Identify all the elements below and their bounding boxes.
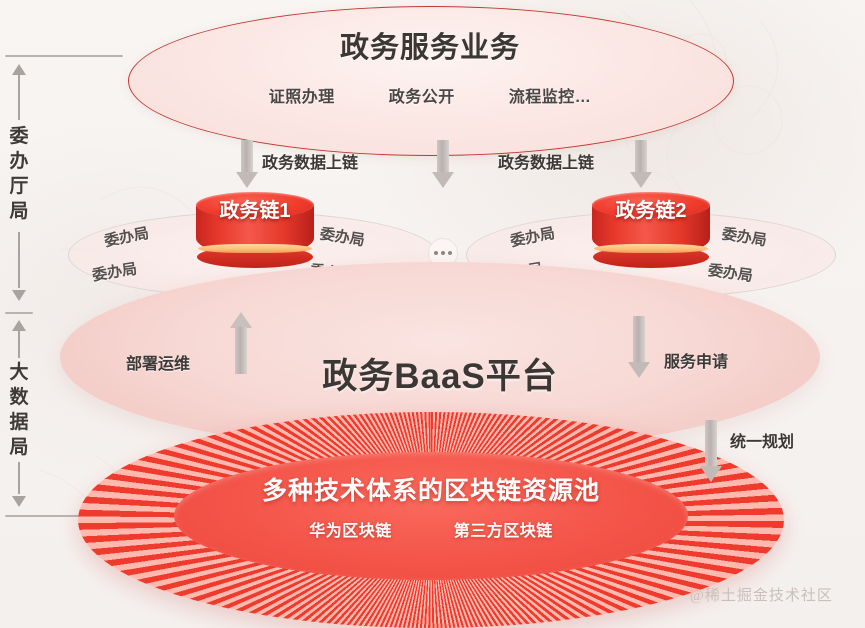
sidebar-arrow-down-1: [12, 290, 26, 301]
sidebar-item-weiban-tingju: 委办厅局: [4, 124, 34, 224]
business-item-process-monitor: 流程监控…: [509, 83, 592, 107]
business-item-disclosure: 政务公开: [389, 83, 455, 107]
sidebar-line-upper-1: [18, 74, 20, 120]
chain-cylinder-1[interactable]: 政务链1: [196, 192, 314, 268]
cylinder2-band: [594, 244, 708, 253]
pool-item-third-party-chain: 第三方区块链: [454, 517, 553, 541]
sidebar-line-upper-2: [18, 330, 20, 358]
business-item-certificate: 证照办理: [269, 83, 335, 107]
business-layer-item-list: 证照办理 政务公开 流程监控…: [128, 83, 732, 107]
sidebar-rule-bottom: [5, 515, 79, 517]
watermark: @稀土掘金技术社区: [690, 584, 833, 605]
chain-cylinder-1-label: 政务链1: [196, 194, 314, 223]
label-unified-plan: 统一规划: [730, 428, 794, 452]
label-service-apply: 服务申请: [664, 348, 728, 372]
sidebar-line-lower-2: [18, 462, 20, 494]
sidebar-rule-middle: [5, 312, 33, 314]
chain-cylinder-2[interactable]: 政务链2: [592, 192, 710, 268]
arrow-data-on-chain-center: [432, 140, 454, 188]
diagram-canvas: 委办厅局 大数据局 政务服务业务 证照办理 政务公开 流程监控… 政务数据上链 …: [0, 0, 865, 628]
sidebar-item-big-data-bureau: 大数据局: [4, 360, 34, 460]
arrow-data-on-chain-right: [630, 140, 652, 188]
sidebar-line-lower-1: [18, 232, 20, 288]
cylinder1-band: [198, 244, 312, 253]
pool-item-huawei-chain: 华为区块链: [309, 517, 392, 541]
label-deploy-ops: 部署运维: [126, 350, 190, 374]
chain-cylinder-2-label: 政务链2: [592, 194, 710, 223]
label-data-on-chain-left: 政务数据上链: [262, 149, 358, 173]
arrow-service-apply: [628, 316, 650, 378]
arrow-deploy-ops: [230, 312, 252, 374]
resource-pool-item-list: 华为区块链 第三方区块链: [174, 517, 688, 541]
resource-pool-title: 多种技术体系的区块链资源池: [174, 471, 688, 507]
label-data-on-chain-right: 政务数据上链: [498, 149, 594, 173]
sidebar-rule-top: [5, 55, 123, 57]
sidebar-arrow-down-2: [12, 496, 26, 507]
arrow-unified-plan: [700, 420, 722, 482]
business-layer-title: 政务服务业务: [128, 24, 732, 66]
arrow-data-on-chain-left: [236, 140, 258, 188]
